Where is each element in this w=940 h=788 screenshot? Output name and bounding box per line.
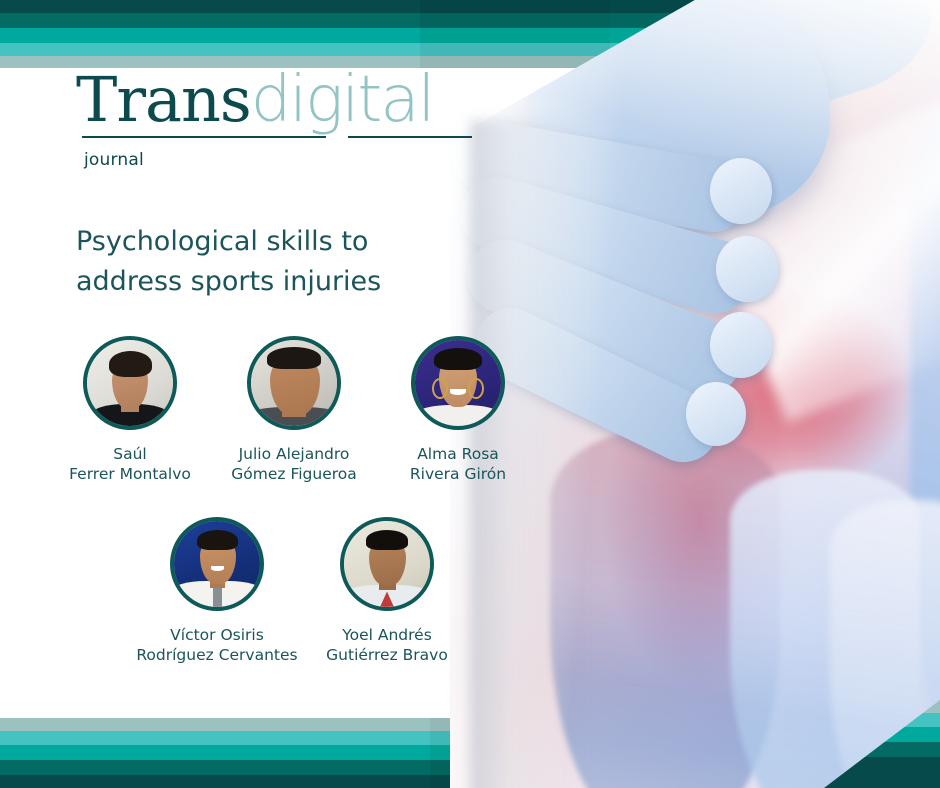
- author-last-name: Rodríguez Cervantes: [136, 645, 297, 665]
- author-last-name: Rivera Girón: [410, 464, 506, 484]
- authors-row-2: Víctor Osiris Rodríguez Cervantes Yoel A…: [0, 517, 540, 666]
- author-card[interactable]: Julio Alejandro Gómez Figueroa: [212, 336, 376, 485]
- journal-cover-poster: Transdigital journal Psychological skill…: [0, 0, 940, 788]
- avatar: [83, 336, 177, 430]
- author-first-name: Saúl: [69, 444, 191, 464]
- logo-rule-left: [82, 136, 326, 138]
- author-first-name: Víctor Osiris: [136, 625, 297, 645]
- logo-wordmark: Transdigital: [76, 68, 476, 132]
- fingertip-ring: [710, 312, 772, 378]
- logo-digital-text: digital: [251, 63, 434, 137]
- portrait-julio: [251, 340, 337, 426]
- journal-logo[interactable]: Transdigital journal: [76, 68, 476, 170]
- author-card[interactable]: Saúl Ferrer Montalvo: [48, 336, 212, 485]
- fingertip-index: [710, 158, 772, 224]
- author-name: Julio Alejandro Gómez Figueroa: [231, 444, 357, 485]
- portrait-victor: [174, 521, 260, 607]
- author-card[interactable]: Alma Rosa Rivera Girón: [376, 336, 540, 485]
- title-line-1: Psychological skills to: [76, 222, 476, 262]
- logo-subtitle: journal: [84, 150, 476, 170]
- author-card[interactable]: Yoel Andrés Gutiérrez Bravo: [302, 517, 472, 666]
- author-name: Víctor Osiris Rodríguez Cervantes: [136, 625, 297, 666]
- author-last-name: Ferrer Montalvo: [69, 464, 191, 484]
- author-name: Alma Rosa Rivera Girón: [410, 444, 506, 485]
- content-column: Transdigital journal Psychological skill…: [0, 0, 540, 788]
- author-name: Saúl Ferrer Montalvo: [69, 444, 191, 485]
- author-first-name: Alma Rosa: [410, 444, 506, 464]
- page-title: Psychological skills to address sports i…: [76, 222, 476, 302]
- avatar: [340, 517, 434, 611]
- author-first-name: Yoel Andrés: [326, 625, 448, 645]
- authors-section: Saúl Ferrer Montalvo Julio Alejandro Góm…: [0, 336, 540, 666]
- avatar: [247, 336, 341, 430]
- portrait-saul: [87, 340, 173, 426]
- title-line-2: address sports injuries: [76, 262, 476, 302]
- avatar: [170, 517, 264, 611]
- fingertip-middle: [716, 236, 778, 302]
- author-last-name: Gómez Figueroa: [231, 464, 357, 484]
- fingertip-little: [686, 382, 746, 446]
- logo-rule-right: [348, 136, 472, 138]
- avatar: [411, 336, 505, 430]
- author-name: Yoel Andrés Gutiérrez Bravo: [326, 625, 448, 666]
- authors-row-1: Saúl Ferrer Montalvo Julio Alejandro Góm…: [0, 336, 540, 485]
- logo-underline-rules: [76, 134, 476, 144]
- portrait-alma: [415, 340, 501, 426]
- author-last-name: Gutiérrez Bravo: [326, 645, 448, 665]
- author-card[interactable]: Víctor Osiris Rodríguez Cervantes: [132, 517, 302, 666]
- logo-trans-text: Trans: [76, 63, 251, 136]
- author-first-name: Julio Alejandro: [231, 444, 357, 464]
- portrait-yoel: [344, 521, 430, 607]
